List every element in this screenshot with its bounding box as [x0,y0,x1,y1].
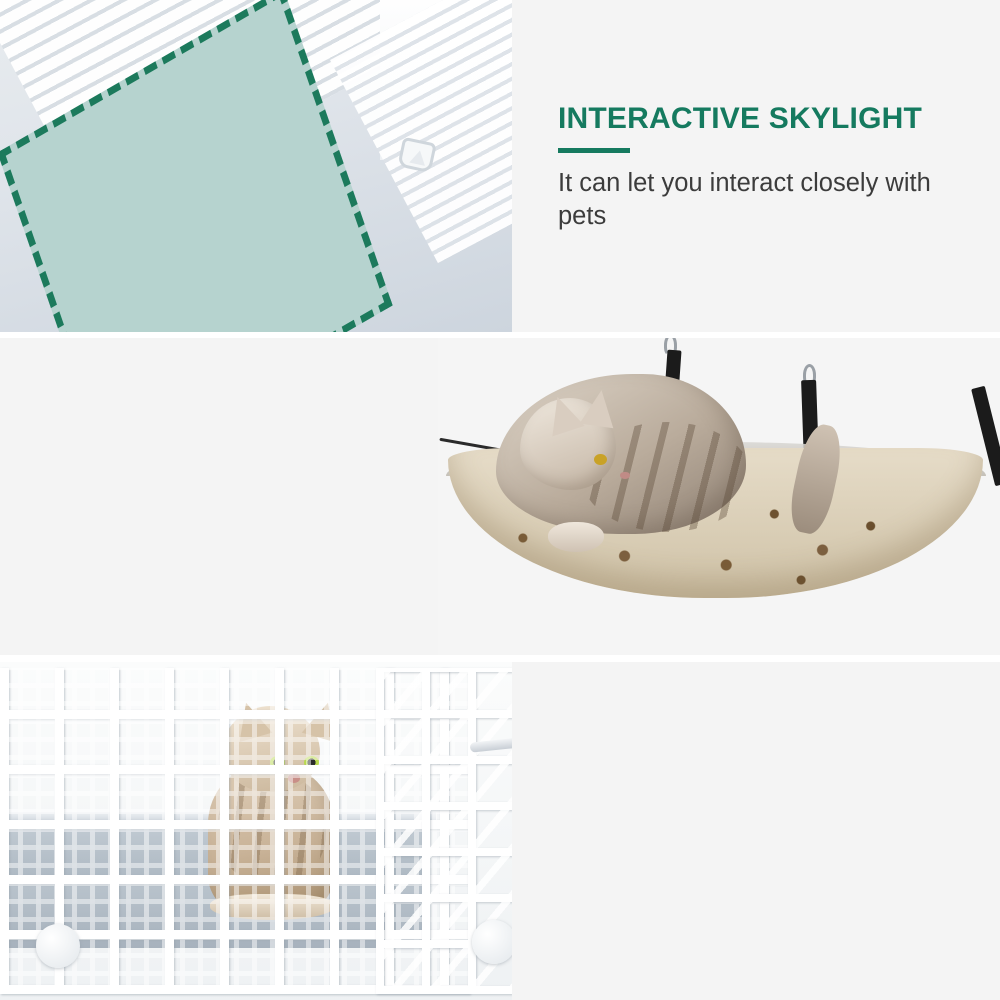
caster-wheel-icon [36,924,80,968]
feature-panel-skylight: INTERACTIVE SKYLIGHT It can let you inte… [0,0,1000,332]
caster-wheel-icon [472,920,512,964]
skylight-text-block: INTERACTIVE SKYLIGHT It can let you inte… [558,103,978,234]
cat-paw [548,522,604,552]
skylight-product-photo [0,0,512,332]
cat-ear-icon [541,392,584,437]
feature-panel-hammock: FREE HAMMOCKS You can avoid the trouble … [0,338,1000,655]
hammock-product-photo [438,338,1000,655]
skylight-heading: INTERACTIVE SKYLIGHT [558,103,978,135]
cat-nose [620,472,630,479]
skylight-description: It can let you interact closely with pet… [558,167,978,234]
feature-panel-stairs: SAFE STAIRS Hook-top stairs are more sta… [0,662,1000,1000]
infographic-page: INTERACTIVE SKYLIGHT It can let you inte… [0,0,1000,1000]
cat-in-hammock [496,374,746,534]
cat-ear-icon [580,388,619,428]
cat-head [520,398,616,490]
stairs-product-photo [0,662,512,1000]
cat-eye [594,454,607,465]
skylight-heading-underline [558,148,630,153]
